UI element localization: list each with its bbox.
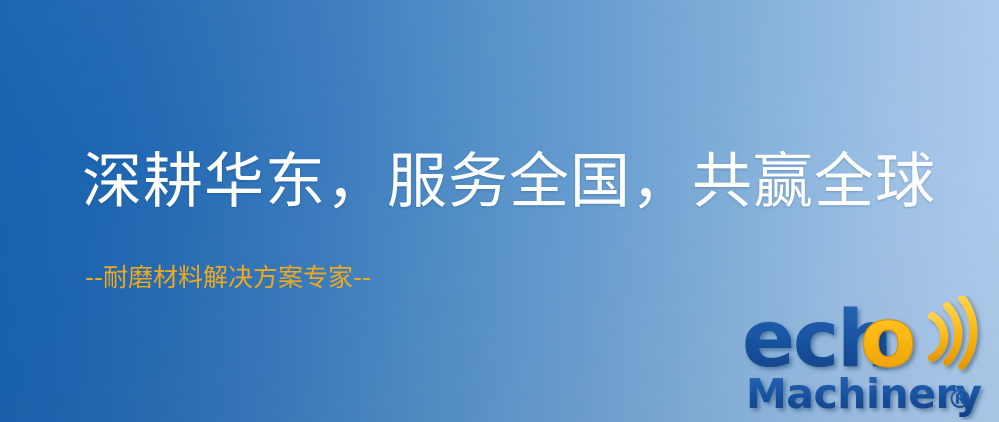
echo-wave-icon — [932, 298, 974, 366]
banner-subheadline: --耐磨材料解决方案专家-- — [85, 264, 371, 293]
echo-machinery-logo: ech o Machinery ® — [742, 296, 994, 420]
registered-trademark-icon: ® — [947, 385, 973, 415]
promo-banner: 深耕华东，服务全国，共赢全球 --耐磨材料解决方案专家-- — [0, 0, 999, 422]
banner-headline: 深耕华东，服务全国，共赢全球 — [82, 152, 936, 212]
